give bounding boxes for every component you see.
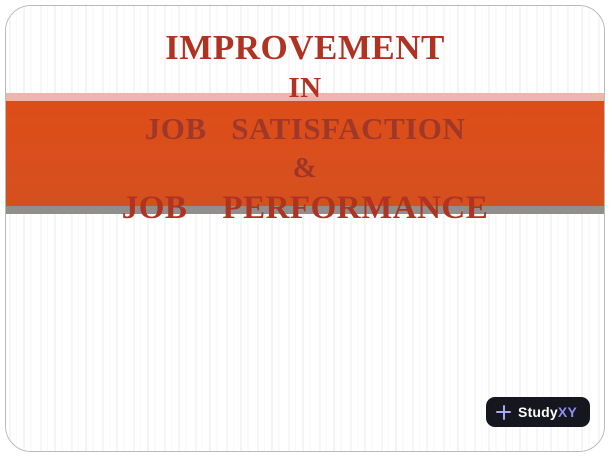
title-line-job-satisfaction: JOB SATISFACTION <box>6 113 604 144</box>
slide-title-block: IMPROVEMENT IN JOB SATISFACTION & JOB PE… <box>6 30 604 225</box>
watermark-brand-accent: XY <box>558 404 577 420</box>
title-line-job-performance: JOB PERFORMANCE <box>6 192 604 225</box>
studyxy-watermark-badge[interactable]: StudyXY <box>486 397 590 427</box>
title-line-improvement: IMPROVEMENT <box>6 30 604 65</box>
title-line-in: IN <box>6 74 604 103</box>
slide-card: IMPROVEMENT IN JOB SATISFACTION & JOB PE… <box>5 5 605 452</box>
watermark-brand: StudyXY <box>518 404 577 420</box>
watermark-brand-primary: Study <box>518 404 558 420</box>
presentation-slide: IMPROVEMENT IN JOB SATISFACTION & JOB PE… <box>0 0 612 459</box>
title-line-ampersand: & <box>6 154 604 183</box>
plus-icon <box>496 405 511 420</box>
